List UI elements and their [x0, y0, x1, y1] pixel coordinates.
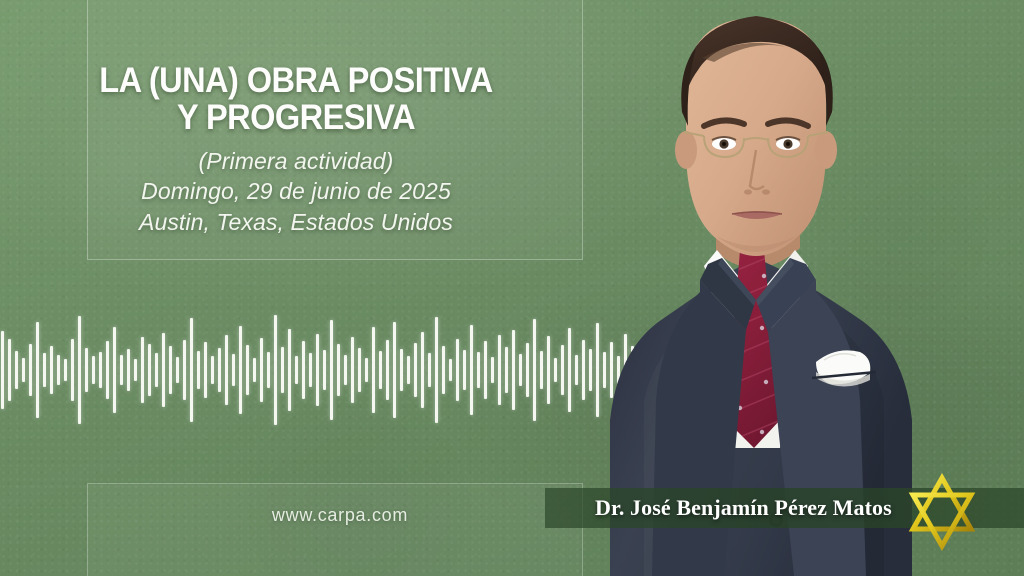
waveform-bar — [64, 359, 67, 381]
waveform-bar — [71, 339, 74, 401]
waveform-bar — [169, 346, 172, 394]
waveform-bar — [43, 353, 46, 387]
waveform-bar — [456, 339, 459, 401]
waveform-bar — [526, 343, 529, 397]
waveform-bar — [547, 336, 550, 404]
waveform-bar — [316, 334, 319, 406]
waveform-bar — [78, 316, 81, 424]
waveform-bar — [393, 322, 396, 418]
waveform-bar — [540, 351, 543, 389]
page-title: LA (UNA) OBRA POSITIVA Y PROGRESIVA — [21, 62, 572, 137]
waveform-bar — [36, 322, 39, 418]
audio-waveform — [0, 272, 662, 467]
waveform-bar — [134, 359, 137, 381]
waveform-bar — [449, 359, 452, 381]
waveform-bar — [386, 340, 389, 400]
waveform-bar — [281, 347, 284, 393]
waveform-bar — [323, 350, 326, 390]
waveform-bar — [309, 353, 312, 387]
waveform-bar — [85, 348, 88, 392]
waveform-bar — [120, 355, 123, 385]
waveform-bar — [15, 351, 18, 389]
waveform-bar — [274, 315, 277, 425]
waveform-bar — [162, 333, 165, 407]
waveform-bar — [407, 356, 410, 384]
waveform-bar — [554, 358, 557, 382]
waveform-bar — [148, 344, 151, 396]
waveform-bar — [260, 338, 263, 402]
waveform-bar — [225, 335, 228, 405]
waveform-bar — [29, 344, 32, 396]
website-url[interactable]: www.carpa.com — [200, 505, 480, 526]
waveform-bar — [232, 354, 235, 386]
waveform-bar — [596, 323, 599, 417]
waveform-bar — [337, 344, 340, 396]
waveform-bar — [365, 358, 368, 382]
waveform-bar — [211, 356, 214, 384]
waveform-bar — [155, 353, 158, 387]
waveform-bar — [575, 355, 578, 385]
waveform-bar — [561, 345, 564, 395]
waveform-bar — [183, 340, 186, 400]
waveform-bar — [414, 343, 417, 397]
waveform-bar — [519, 354, 522, 386]
waveform-bar — [253, 358, 256, 382]
waveform-bar — [330, 320, 333, 420]
waveform-bar — [267, 352, 270, 388]
presentation-slide: LA (UNA) OBRA POSITIVA Y PROGRESIVA (Pri… — [0, 0, 1024, 576]
waveform-bar — [428, 353, 431, 387]
waveform-bar — [113, 327, 116, 413]
waveform-bar — [498, 335, 501, 405]
title-line-1: LA (UNA) OBRA POSITIVA — [99, 61, 492, 100]
waveform-bar — [295, 356, 298, 384]
waveform-bar — [99, 352, 102, 388]
waveform-bar — [379, 351, 382, 389]
waveform-bar — [477, 352, 480, 388]
waveform-bar — [22, 358, 25, 382]
waveform-bar — [197, 351, 200, 389]
waveform-bar — [491, 357, 494, 383]
subtitle-block: (Primera actividad) Domingo, 29 de junio… — [0, 146, 592, 237]
waveform-bar — [505, 347, 508, 393]
waveform-bar — [302, 341, 305, 399]
title-line-2: Y PROGRESIVA — [177, 98, 415, 137]
waveform-bar — [50, 346, 53, 394]
waveform-bar — [190, 318, 193, 422]
decorative-frame-bottom — [87, 483, 583, 576]
waveform-bar — [400, 349, 403, 391]
waveform-bar — [92, 356, 95, 384]
waveform-bar — [533, 319, 536, 421]
waveform-bar — [372, 327, 375, 413]
waveform-bar — [442, 346, 445, 394]
waveform-bar — [589, 349, 592, 391]
subtitle-activity: (Primera actividad) — [0, 146, 592, 176]
waveform-bar — [57, 355, 60, 385]
waveform-bar — [582, 340, 585, 400]
waveform-bar — [239, 326, 242, 414]
waveform-bar — [512, 330, 515, 410]
subtitle-date: Domingo, 29 de junio de 2025 — [0, 176, 592, 206]
waveform-bar — [288, 329, 291, 411]
waveform-bar — [484, 341, 487, 399]
waveform-bar — [246, 345, 249, 395]
subtitle-location: Austin, Texas, Estados Unidos — [0, 207, 592, 237]
waveform-bar — [344, 355, 347, 385]
waveform-bar — [218, 348, 221, 392]
star-of-david-icon — [902, 472, 982, 552]
waveform-bar — [127, 349, 130, 391]
waveform-bar — [176, 357, 179, 383]
waveform-bar — [141, 337, 144, 403]
waveform-bar — [204, 342, 207, 398]
waveform-bar — [106, 341, 109, 399]
waveform-bar — [351, 337, 354, 403]
waveform-bar — [421, 332, 424, 408]
waveform-bar — [470, 325, 473, 415]
waveform-bar — [1, 331, 4, 409]
waveform-bar — [463, 350, 466, 390]
title-block: LA (UNA) OBRA POSITIVA Y PROGRESIVA (Pri… — [0, 62, 592, 237]
speaker-name: Dr. José Benjamín Pérez Matos — [595, 495, 892, 521]
waveform-bar — [568, 328, 571, 412]
waveform-bar — [435, 317, 438, 423]
waveform-bar — [8, 339, 11, 401]
waveform-bar — [358, 348, 361, 392]
